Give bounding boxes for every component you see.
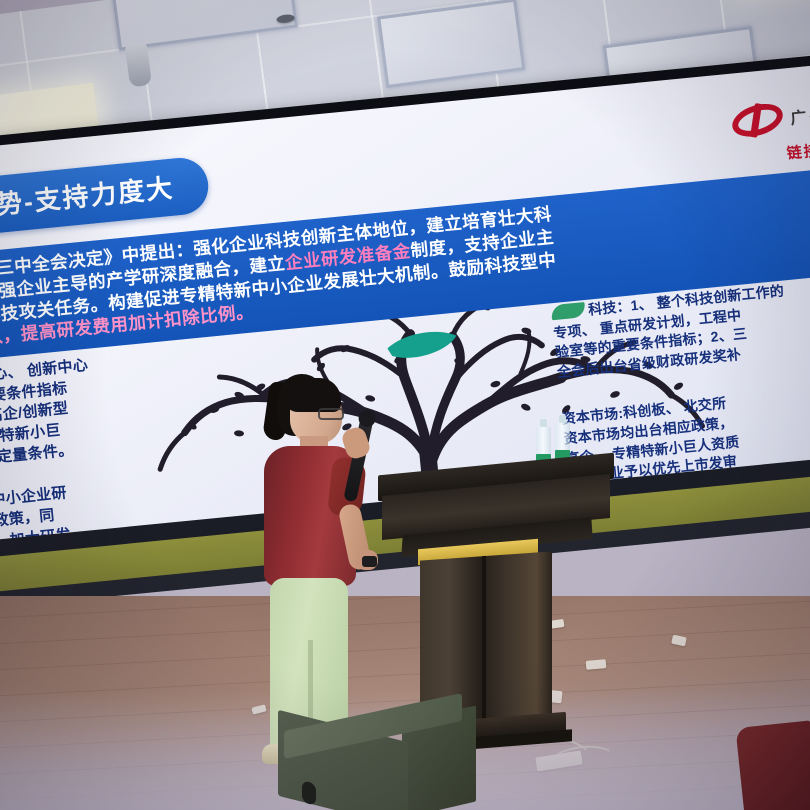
conference-presentation-photo: 当前形势-支持力度大 广州生 链接创新 党的二十届三中全会决定》中提出：强化企业…: [0, 0, 810, 810]
podium-column-seam: [482, 556, 486, 728]
red-oval-monogram-logo-icon: [730, 103, 785, 138]
presentation-clicker: [362, 556, 377, 567]
presenter-hair-top: [285, 378, 341, 412]
brand-logo: 广州生: [730, 97, 810, 138]
teal-leaf-shape: [386, 329, 458, 359]
red-chair: [735, 720, 810, 810]
glasses-icon: [318, 408, 344, 420]
floor-monitor-speaker: [278, 712, 476, 810]
leaf-bullet-icon: [551, 302, 586, 320]
brand-tagline: 链接创新: [786, 136, 810, 164]
brand-org-name: 广州生: [789, 100, 810, 129]
